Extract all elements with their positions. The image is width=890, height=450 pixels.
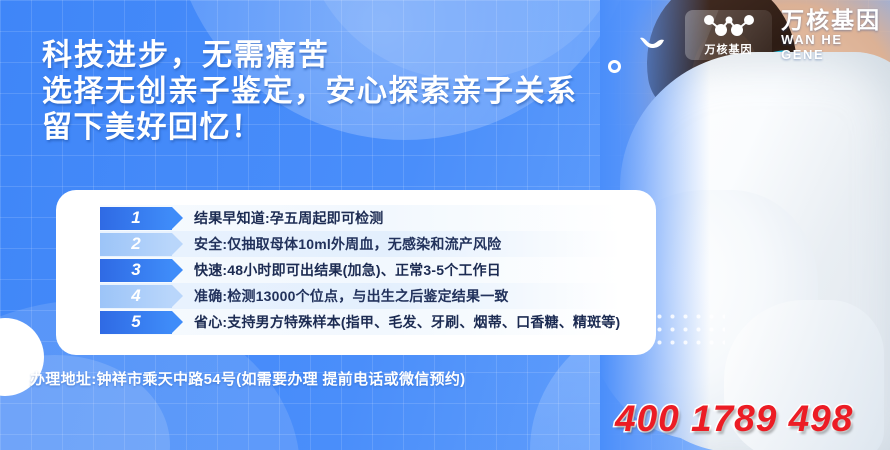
molecule-dna-icon [701, 14, 757, 40]
feature-text: 快速:48小时即可出结果(加急)、正常3-5个工作日 [194, 260, 501, 280]
feature-number: 2 [131, 234, 140, 254]
headline-line-3: 留下美好回忆！ [42, 110, 578, 146]
feature-row: 5省心:支持男方特殊样本(指甲、毛发、牙刷、烟蒂、口香糖、精斑等) [100, 309, 620, 335]
feature-text: 准确:检测13000个位点，与出生之后鉴定结果一致 [194, 286, 509, 306]
ring-decoration-icon [608, 60, 621, 73]
logo-badge: 万核基因 [685, 10, 772, 60]
logo-wordmark: 万核基因 WAN HE GENE [781, 8, 890, 62]
feature-text: 结果早知道:孕五周起即可检测 [194, 208, 383, 228]
feature-number-badge: 5 [100, 311, 172, 334]
feature-number-badge: 4 [100, 285, 172, 308]
feature-row: 2安全:仅抽取母体10ml外周血，无感染和流产风险 [100, 231, 620, 257]
feature-row: 1结果早知道:孕五周起即可检测 [100, 205, 620, 231]
logo-name-cn: 万核基因 [781, 8, 890, 32]
feature-row: 3快速:48小时即可出结果(加急)、正常3-5个工作日 [100, 257, 620, 283]
promo-banner: 万核基因 万核基因 WAN HE GENE 科技进步，无需痛苦 选择无创亲子鉴定… [0, 0, 890, 450]
address-text: 办理地址:钟祥市乘天中路54号(如需要办理 提前电话或微信预约) [30, 368, 465, 389]
headline-line-1: 科技进步，无需痛苦 [42, 38, 578, 74]
swoosh-decoration-icon [639, 35, 665, 53]
feature-number-badge: 1 [100, 207, 172, 230]
headline-line-2: 选择无创亲子鉴定，安心探索亲子关系 [42, 74, 578, 110]
feature-number: 5 [131, 312, 140, 332]
features-list: 1结果早知道:孕五周起即可检测2安全:仅抽取母体10ml外周血，无感染和流产风险… [100, 205, 620, 335]
feature-text: 省心:支持男方特殊样本(指甲、毛发、牙刷、烟蒂、口香糖、精斑等) [194, 312, 620, 332]
feature-number-badge: 3 [100, 259, 172, 282]
feature-number: 1 [131, 208, 140, 228]
feature-number-badge: 2 [100, 233, 172, 256]
logo-name-en: WAN HE GENE [781, 32, 890, 62]
headline-block: 科技进步，无需痛苦 选择无创亲子鉴定，安心探索亲子关系 留下美好回忆！ [42, 38, 578, 146]
brand-logo[interactable]: 万核基因 万核基因 WAN HE GENE [685, 8, 890, 62]
feature-text: 安全:仅抽取母体10ml外周血，无感染和流产风险 [194, 234, 501, 254]
feature-number: 3 [131, 260, 140, 280]
feature-number: 4 [131, 286, 140, 306]
feature-row: 4准确:检测13000个位点，与出生之后鉴定结果一致 [100, 283, 620, 309]
phone-number[interactable]: 400 1789 498 [615, 398, 853, 440]
logo-badge-label: 万核基因 [705, 41, 753, 57]
